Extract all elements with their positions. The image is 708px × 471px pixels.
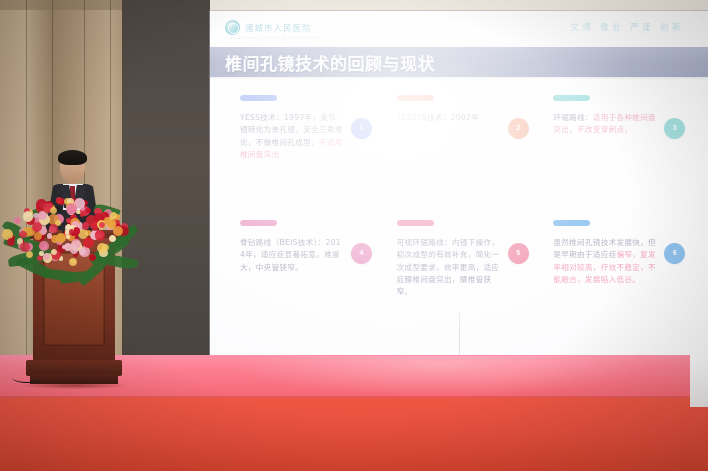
card-text: 可视环锯路线：内镜下操作，初次成型的有效补充，简化一次成型要求，效率更高，适应症…: [397, 237, 500, 298]
card-text-main: 脊钻路线（BEIS技术）：2014年，适应症显著拓宽，难度大，中央管狭窄。: [240, 238, 341, 272]
card-text: 脊钻路线（BEIS技术）：2014年，适应症显著拓宽，难度大，中央管狭窄。: [240, 237, 343, 274]
card-text-main: 环锯路线：: [553, 113, 592, 122]
flower-bloom: [79, 248, 86, 255]
flower-bloom: [23, 211, 33, 221]
flower-bloom: [20, 242, 30, 252]
card-accent-bar: [240, 95, 277, 101]
flower-bloom: [34, 232, 42, 240]
speaker-hair: [58, 150, 87, 165]
stage-front-face: [0, 398, 708, 471]
projection-screen: 诸城市人民医院 ZHUCHENG PEOPLE'S HOSPITAL 文博 敬业…: [210, 11, 708, 356]
flower-bloom: [89, 254, 96, 261]
card-number-badge: 1: [351, 118, 372, 139]
conference-photo-scene: 诸城市人民医院 ZHUCHENG PEOPLE'S HOSPITAL 文博 敬业…: [0, 0, 708, 471]
card-accent-bar: [397, 220, 434, 226]
slide-header: 诸城市人民医院 ZHUCHENG PEOPLE'S HOSPITAL 文博 敬业…: [210, 11, 708, 46]
flower-bloom: [80, 213, 84, 217]
flower-bloom: [49, 224, 58, 233]
card-accent-bar: [553, 95, 590, 101]
hospital-name-pinyin: ZHUCHENG PEOPLE'S HOSPITAL: [230, 35, 322, 40]
flower-bloom: [51, 249, 58, 256]
card-text-main: TESSYS技术：2002年: [397, 113, 479, 122]
stage-right-wall: [690, 355, 708, 407]
flower-arrangement: [2, 186, 136, 296]
flower-bloom: [62, 245, 66, 249]
slide-title: 椎间孔镜技术的回顾与现状: [225, 50, 435, 75]
card-number-badge: 6: [664, 243, 685, 264]
card-number-badge: 4: [351, 243, 372, 264]
flower-bloom: [70, 246, 78, 254]
card-accent-bar: [553, 220, 590, 226]
flower-bloom: [86, 208, 91, 213]
card-text: YESS技术：1997年，关节镜转化为单孔镜，安全三角理论，不做椎间孔成型，不适…: [240, 112, 343, 161]
slide-card-1: YESS技术：1997年，关节镜转化为单孔镜，安全三角理论，不做椎间孔成型，不适…: [224, 89, 381, 214]
hospital-globe-icon: [225, 20, 240, 35]
slide-card-4: 脊钻路线（BEIS技术）：2014年，适应症显著拓宽，难度大，中央管狭窄。 4: [224, 214, 381, 339]
flower-bloom: [95, 230, 104, 239]
podium-shadow: [20, 382, 128, 389]
card-number-badge: 2: [508, 118, 529, 139]
flower-bloom: [66, 218, 71, 223]
hospital-motto: 文博 敬业 严谨 创新: [570, 21, 684, 33]
card-number-badge: 3: [664, 118, 685, 139]
flower-bloom: [113, 226, 123, 236]
wall-top-strip: [0, 0, 122, 10]
flower-bloom: [82, 222, 90, 230]
hospital-logo: 诸城市人民医院: [225, 20, 312, 35]
floor-cable: [12, 372, 42, 383]
card-accent-bar: [240, 220, 277, 226]
slide-title-band: 椎间孔镜技术的回顾与现状: [210, 47, 708, 77]
card-text: 虽然椎间孔镜技术发展快，但是早期由于适应症偏窄，复发率相对较高，疗效不稳定，不能…: [553, 237, 656, 286]
card-number-badge: 5: [508, 243, 529, 264]
flower-bloom: [71, 259, 76, 264]
screen-crease: [459, 311, 460, 356]
card-text: TESSYS技术：2002年: [397, 112, 500, 124]
slide-card-2: TESSYS技术：2002年 2: [381, 89, 538, 214]
card-text-main: 可视环锯路线：内镜下操作，初次成型的有效补充，简化一次成型要求，效率更高，适应症…: [397, 238, 500, 296]
flower-bloom: [66, 204, 77, 215]
slide-cards-grid: YESS技术：1997年，关节镜转化为单孔镜，安全三角理论，不做椎间孔成型，不适…: [210, 89, 708, 339]
flower-bloom: [50, 207, 57, 214]
stage-light-sheen: [230, 356, 650, 396]
slide-card-6: 虽然椎间孔镜技术发展快，但是早期由于适应症偏窄，复发率相对较高，疗效不稳定，不能…: [537, 214, 694, 339]
flower-bloom: [19, 231, 27, 239]
flower-bloom: [39, 251, 44, 256]
wall-dark-panel: [122, 0, 210, 358]
flower-bloom: [39, 241, 49, 251]
slide-card-3: 环锯路线：适用于各种椎间盘突出，不改变穿刺点， 3: [537, 89, 694, 214]
card-accent-bar: [397, 95, 434, 101]
flower-bloom: [14, 217, 21, 224]
card-text: 环锯路线：适用于各种椎间盘突出，不改变穿刺点，: [553, 112, 656, 137]
hospital-name: 诸城市人民医院: [245, 22, 312, 34]
flower-bloom: [51, 235, 59, 243]
